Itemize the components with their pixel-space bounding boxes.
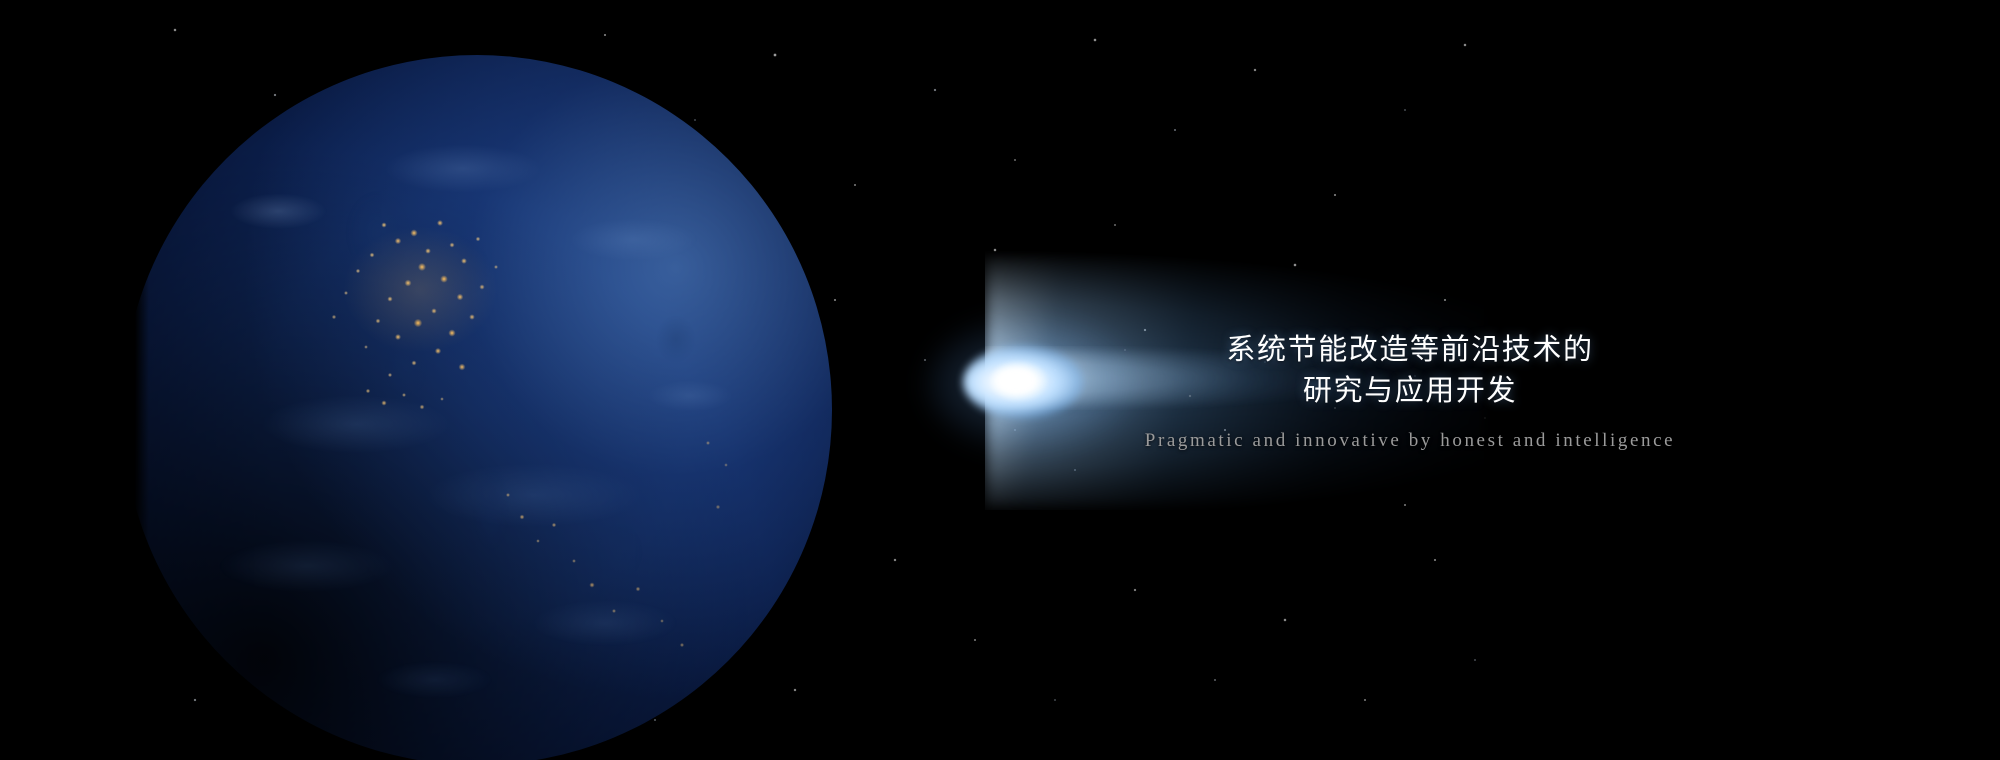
earth-globe [135,55,832,760]
banner-copy: 系统节能改造等前沿技术的 研究与应用开发 Pragmatic and innov… [820,330,2000,454]
headline-line-2: 研究与应用开发 [820,371,2000,412]
banner-headline: 系统节能改造等前沿技术的 研究与应用开发 [820,330,2000,412]
headline-line-1: 系统节能改造等前沿技术的 [820,330,2000,371]
banner-tagline: Pragmatic and innovative by honest and i… [820,428,2000,454]
earth-atmosphere-glow [135,37,850,760]
hero-banner: 系统节能改造等前沿技术的 研究与应用开发 Pragmatic and innov… [0,0,2000,760]
